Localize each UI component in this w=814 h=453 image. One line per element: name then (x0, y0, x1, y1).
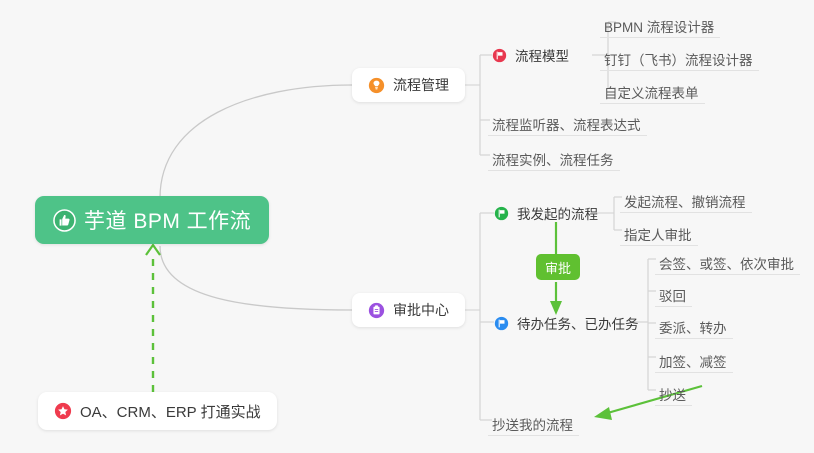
branch-label: 流程管理 (393, 75, 449, 95)
leaf-label: 指定人审批 (624, 229, 692, 243)
leaf-cc[interactable]: 抄送 (655, 376, 692, 406)
node-todo-done[interactable]: 待办任务、已办任务 (494, 309, 639, 337)
leaf-label: 自定义流程表单 (604, 87, 699, 101)
leaf-label: 委派、转办 (659, 322, 727, 336)
root-node[interactable]: 芋道 BPM 工作流 (35, 196, 269, 244)
leaf-bpmn-designer[interactable]: BPMN 流程设计器 (600, 8, 720, 38)
leaf-cc-to-me[interactable]: 抄送我的流程 (488, 406, 579, 436)
root-label: 芋道 BPM 工作流 (84, 205, 251, 235)
mindmap-canvas: 芋道 BPM 工作流 流程管理 流程模型 BPMN 流程设计器 钉钉（飞书）流程 (0, 0, 814, 453)
wire-root-to-process-management (160, 85, 352, 198)
leaf-custom-process-form[interactable]: 自定义流程表单 (600, 74, 705, 104)
arrowhead-cc-to-ccme (594, 407, 612, 420)
leaf-start-cancel[interactable]: 发起流程、撤销流程 (620, 183, 752, 213)
leaf-listener-expression[interactable]: 流程监听器、流程表达式 (488, 106, 647, 136)
leaf-label: 抄送 (659, 389, 686, 403)
branch-label: 审批中心 (393, 300, 449, 320)
leaf-label: 流程监听器、流程表达式 (492, 119, 641, 133)
wire-root-to-approval-center (160, 246, 352, 310)
flag-green-icon (494, 206, 509, 221)
bottom-note[interactable]: OA、CRM、ERP 打通实战 (38, 392, 277, 430)
clipboard-purple-icon (368, 302, 385, 319)
branch-process-management[interactable]: 流程管理 (352, 68, 465, 102)
flag-red-icon (492, 48, 507, 63)
leaf-label: 会签、或签、依次审批 (659, 258, 794, 272)
leaf-label: 加签、减签 (659, 356, 727, 370)
leaf-reject[interactable]: 驳回 (655, 277, 692, 307)
leaf-assignee-approval[interactable]: 指定人审批 (620, 216, 698, 246)
arrowhead-note-to-root (146, 245, 160, 255)
leaf-delegate-transfer[interactable]: 委派、转办 (655, 309, 733, 339)
leaf-countersign[interactable]: 会签、或签、依次审批 (655, 245, 800, 275)
leaf-label: 驳回 (659, 290, 686, 304)
node-label: 待办任务、已办任务 (517, 313, 639, 333)
node-label: 我发起的流程 (517, 203, 598, 223)
node-process-model[interactable]: 流程模型 (492, 40, 569, 70)
leaf-label: 钉钉（飞书）流程设计器 (604, 54, 753, 68)
leaf-dingtalk-feishu-designer[interactable]: 钉钉（飞书）流程设计器 (600, 41, 759, 71)
leaf-label: BPMN 流程设计器 (604, 21, 714, 35)
badge-label: 审批 (545, 258, 571, 277)
leaf-instance-task[interactable]: 流程实例、流程任务 (488, 141, 620, 171)
leaf-label: 抄送我的流程 (492, 419, 573, 433)
thumbs-up-icon (53, 209, 76, 232)
approval-badge[interactable]: 审批 (536, 254, 580, 280)
lightbulb-icon (368, 77, 385, 94)
flag-blue-icon (494, 316, 509, 331)
star-red-icon (54, 402, 72, 420)
leaf-add-remove-sign[interactable]: 加签、减签 (655, 343, 733, 373)
node-my-initiated[interactable]: 我发起的流程 (494, 199, 598, 227)
branch-approval-center[interactable]: 审批中心 (352, 293, 465, 327)
leaf-label: 发起流程、撤销流程 (624, 196, 746, 210)
leaf-label: 流程实例、流程任务 (492, 154, 614, 168)
node-label: 流程模型 (515, 45, 569, 65)
bottom-note-label: OA、CRM、ERP 打通实战 (80, 401, 261, 422)
